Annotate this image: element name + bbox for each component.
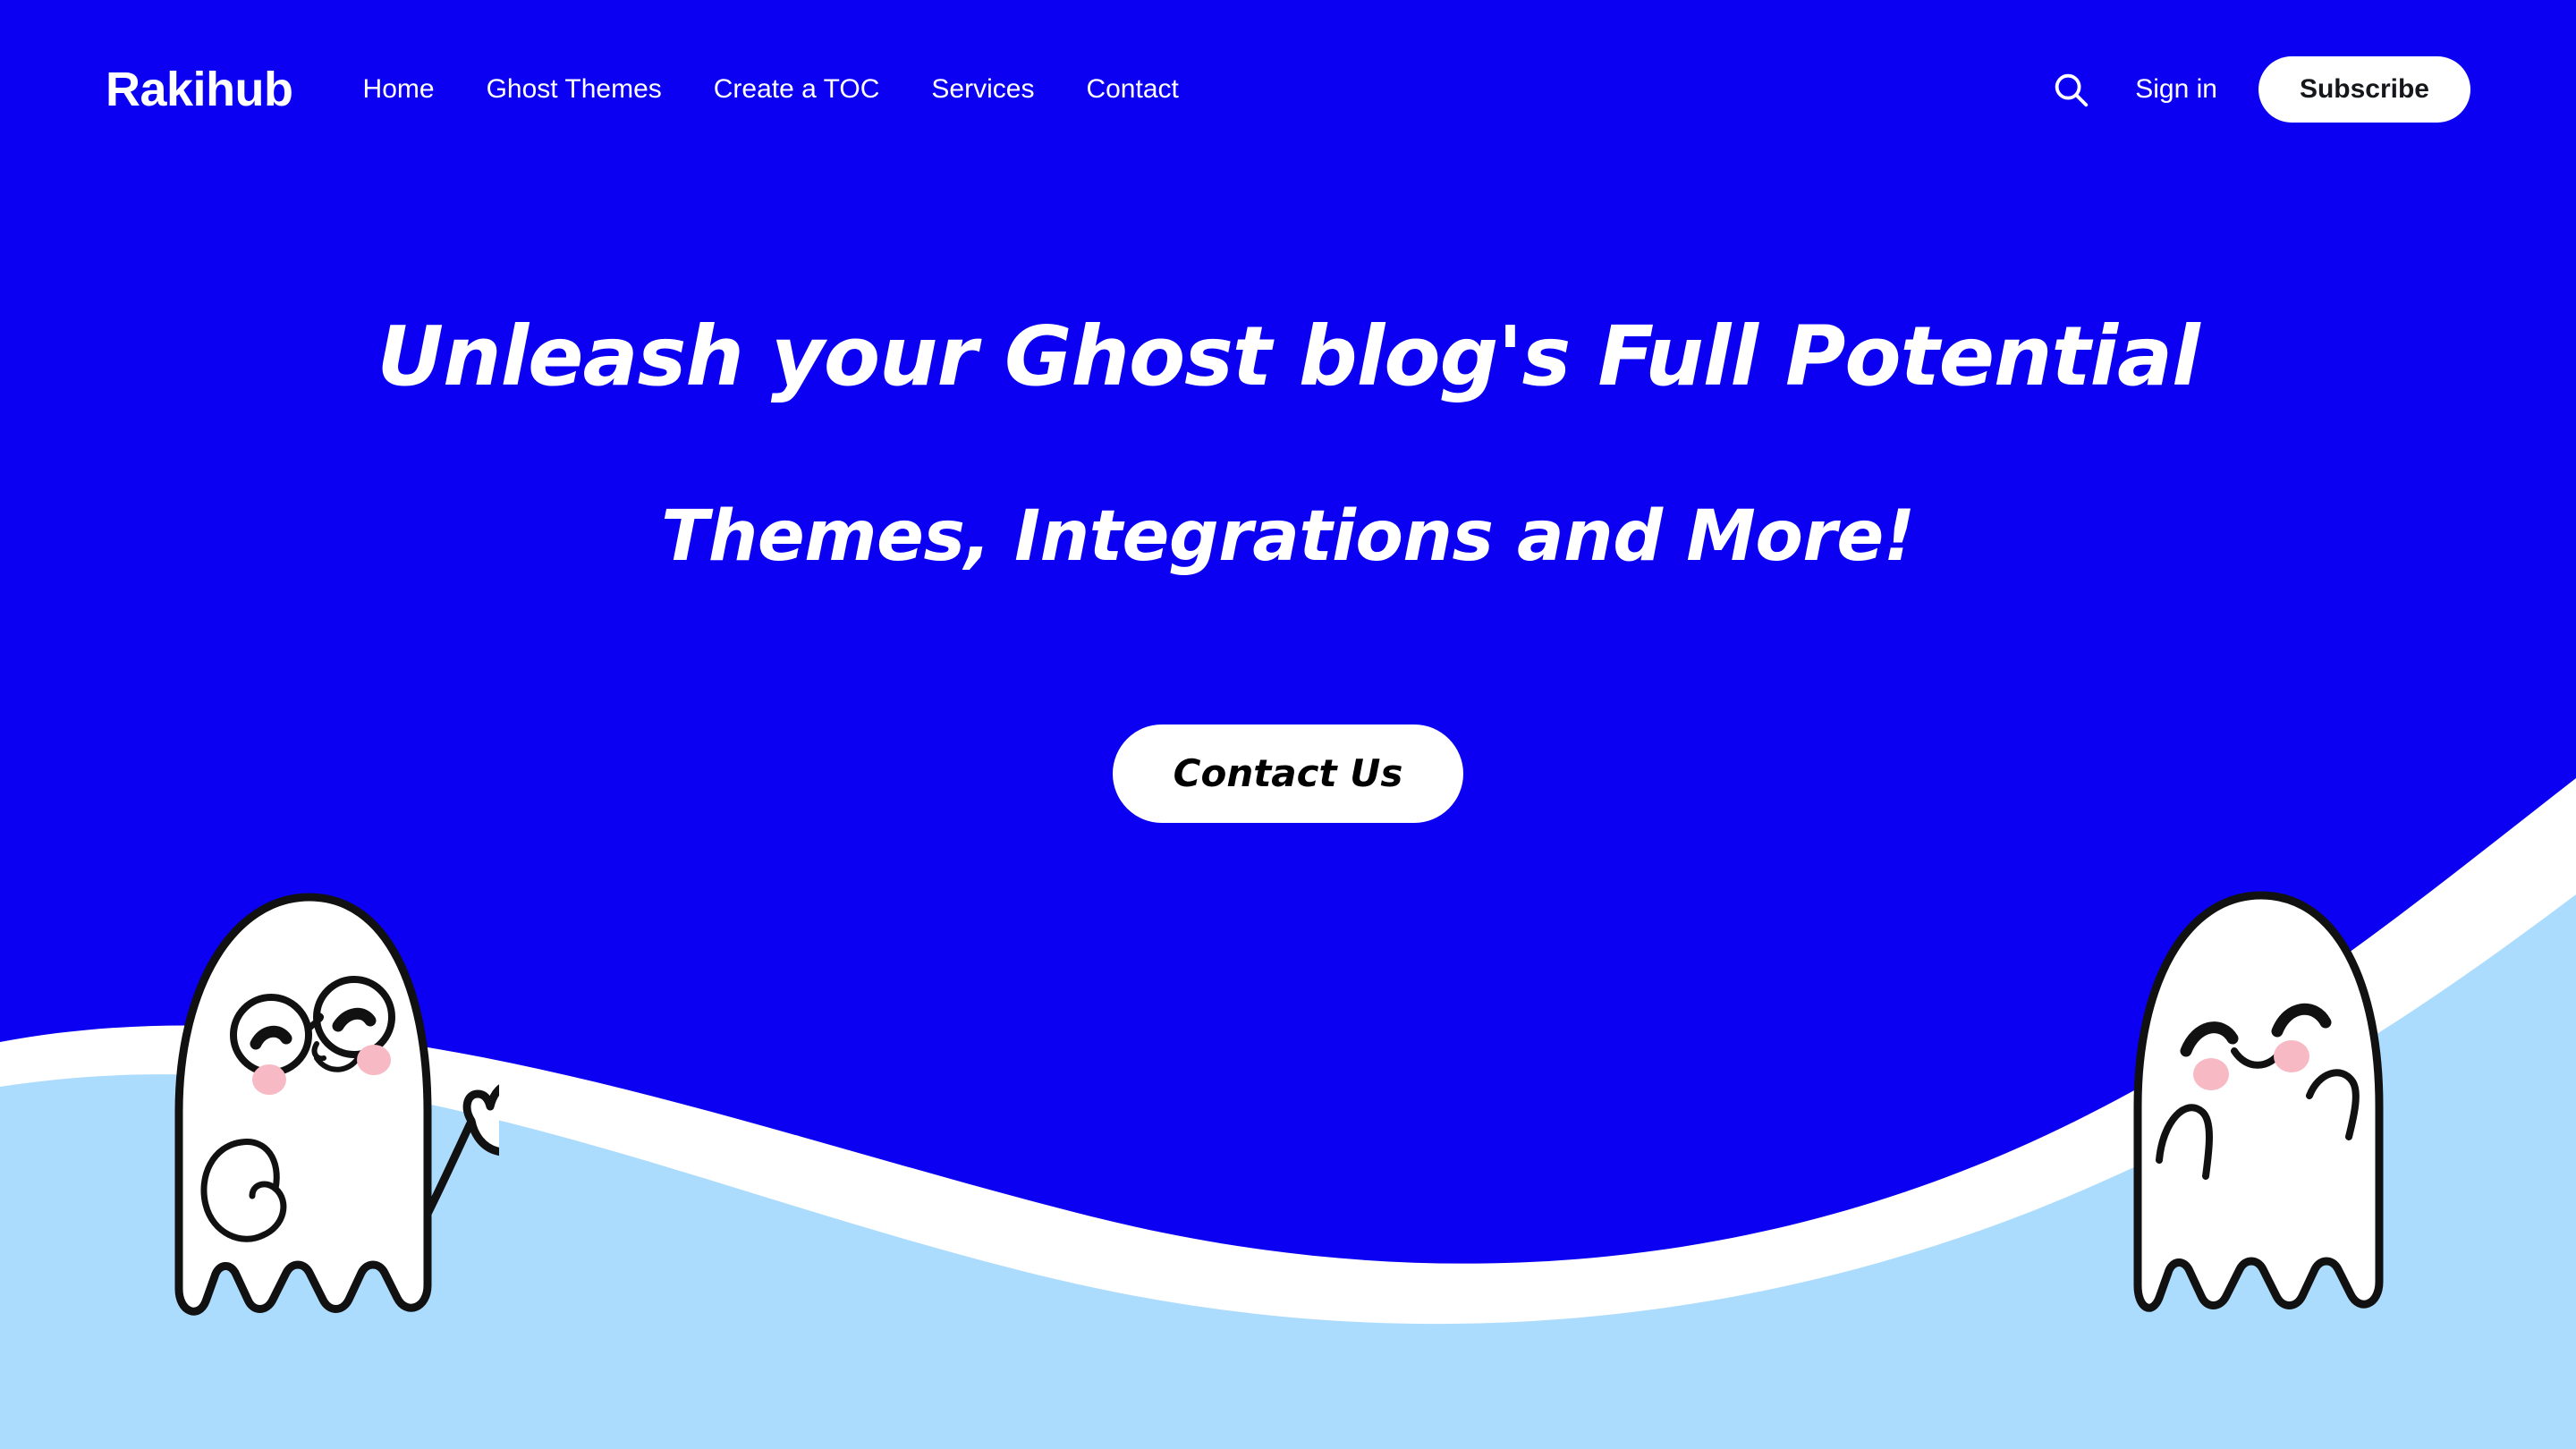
ghost-body xyxy=(179,897,428,1311)
nav-item-create-a-toc[interactable]: Create a TOC xyxy=(714,76,880,103)
brand-logo[interactable]: Rakihub xyxy=(106,65,293,114)
ghost-with-glasses-waving-illustration xyxy=(159,881,499,1364)
subscribe-button[interactable]: Subscribe xyxy=(2258,56,2470,123)
search-button[interactable] xyxy=(2047,66,2094,113)
ghost-happy-arms-up-illustration xyxy=(2120,881,2415,1364)
search-icon xyxy=(2050,69,2091,110)
ghost-blush-left xyxy=(2193,1058,2229,1090)
ghost-hand xyxy=(467,1086,499,1152)
ghost-blush-right xyxy=(357,1045,391,1075)
page-root: Rakihub Home Ghost Themes Create a TOC S… xyxy=(0,0,2576,1449)
sign-in-link[interactable]: Sign in xyxy=(2135,76,2217,103)
header-actions: Sign in Subscribe xyxy=(2047,56,2470,123)
ghost-blush-left xyxy=(252,1064,286,1095)
site-header: Rakihub Home Ghost Themes Create a TOC S… xyxy=(0,0,2576,179)
ghost-blush-right xyxy=(2274,1040,2309,1072)
hero-title: Unleash your Ghost blog's Full Potential xyxy=(377,309,2199,406)
nav-item-home[interactable]: Home xyxy=(363,76,435,103)
nav-item-services[interactable]: Services xyxy=(931,76,1034,103)
ghost-arm xyxy=(428,1115,474,1214)
ghost-body xyxy=(2138,895,2379,1308)
contact-us-button[interactable]: Contact Us xyxy=(1113,724,1464,823)
nav-item-contact[interactable]: Contact xyxy=(1086,76,1178,103)
main-navigation: Home Ghost Themes Create a TOC Services … xyxy=(363,76,1179,103)
nav-item-ghost-themes[interactable]: Ghost Themes xyxy=(487,76,662,103)
hero-subtitle: Themes, Integrations and More! xyxy=(661,496,1915,578)
